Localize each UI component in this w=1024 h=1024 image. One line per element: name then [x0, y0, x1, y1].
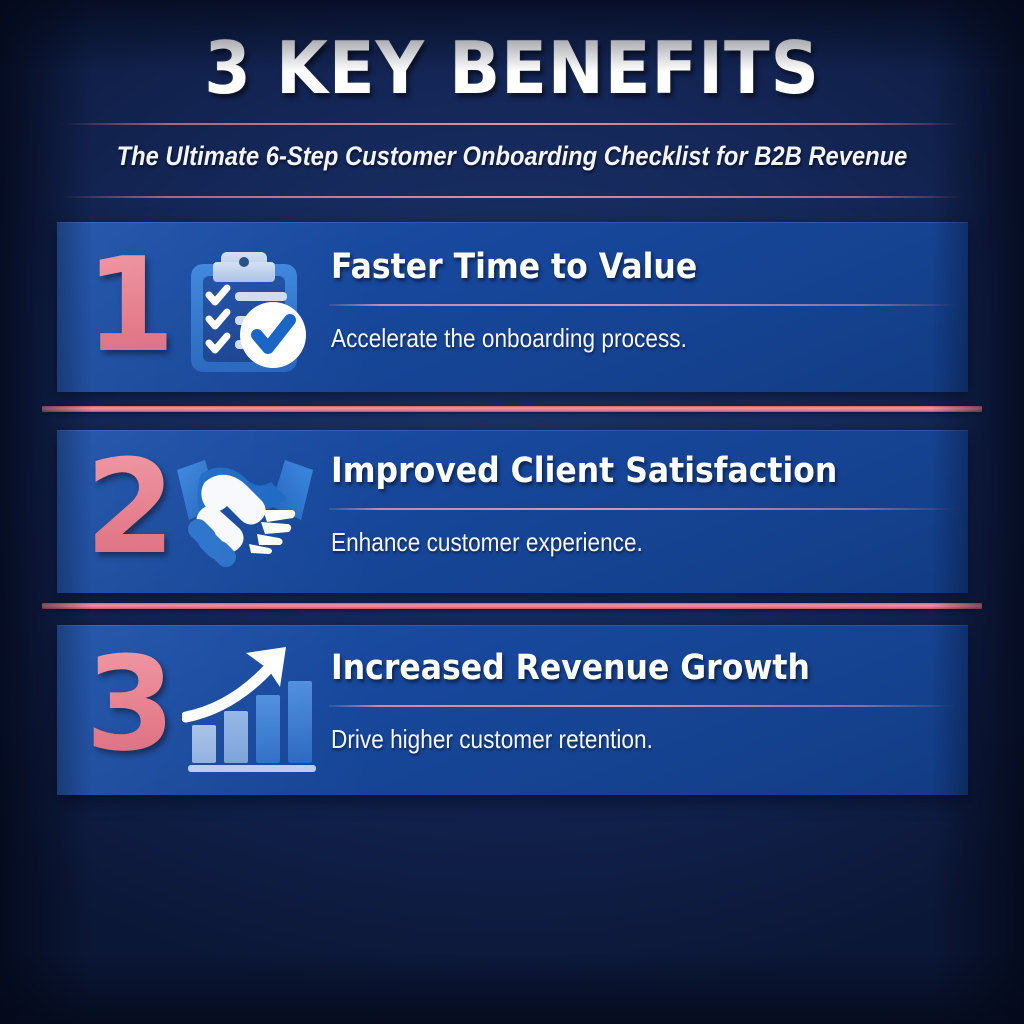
- benefit-number-3: 3: [85, 639, 175, 769]
- page-subtitle: The Ultimate 6-Step Customer Onboarding …: [61, 139, 962, 173]
- benefit-underline-3: [329, 705, 957, 707]
- benefit-card-2[interactable]: 2: [57, 430, 968, 593]
- header-divider-top: [60, 123, 964, 125]
- benefit-heading-1: Faster Time to Value: [331, 246, 697, 288]
- clipboard-checklist-icon: [177, 240, 317, 380]
- benefit-number-1: 1: [85, 240, 175, 370]
- benefit-description-3: Drive higher customer retention.: [331, 723, 653, 755]
- benefit-heading-2: Improved Client Satisfaction: [331, 450, 837, 492]
- growth-bar-chart-icon: [182, 639, 322, 779]
- benefit-card-3[interactable]: 3: [57, 625, 968, 795]
- benefit-description-2: Enhance customer experience.: [331, 526, 643, 558]
- section-divider-2: [42, 603, 982, 609]
- benefit-number-2: 2: [85, 442, 175, 572]
- benefit-card-1[interactable]: 1: [57, 222, 968, 392]
- benefit-description-1: Accelerate the onboarding process.: [331, 322, 687, 354]
- handshake-icon: [175, 448, 315, 578]
- benefit-underline-1: [329, 304, 957, 306]
- benefit-underline-2: [329, 508, 957, 510]
- page-title: 3 KEY BENEFITS: [36, 28, 988, 108]
- section-divider-1: [42, 406, 982, 412]
- benefit-heading-3: Increased Revenue Growth: [331, 647, 810, 689]
- infographic-page: 3 KEY BENEFITS The Ultimate 6-Step Custo…: [0, 0, 1024, 1024]
- header-divider-bottom: [60, 196, 964, 198]
